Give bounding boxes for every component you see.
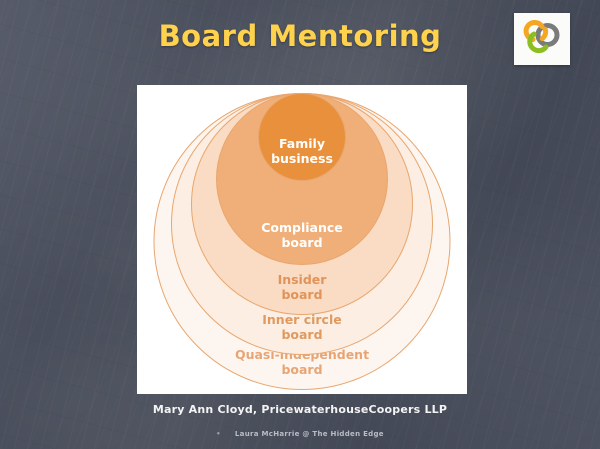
slide-canvas: Board Mentoring Quasi-independent board … bbox=[0, 0, 600, 449]
page-title: Board Mentoring bbox=[0, 19, 600, 53]
circle-family-business: Family business bbox=[258, 93, 346, 181]
interlocking-rings-logo bbox=[514, 13, 570, 65]
source-text: Laura McHarrie @ The Hidden Edge bbox=[235, 430, 384, 438]
credit-line: Mary Ann Cloyd, PricewaterhouseCoopers L… bbox=[0, 403, 600, 416]
circle-label-insider-board: Insider board bbox=[192, 272, 412, 303]
diagram-panel: Quasi-independent board Inner circle boa… bbox=[137, 85, 467, 394]
circle-label-compliance-board: Compliance board bbox=[217, 220, 387, 251]
circle-label-family-business: Family business bbox=[259, 136, 345, 167]
source-line: •Laura McHarrie @ The Hidden Edge bbox=[0, 430, 600, 438]
circle-label-inner-circle-board: Inner circle board bbox=[172, 312, 432, 343]
bullet-icon: • bbox=[216, 430, 221, 438]
interlocking-rings-icon bbox=[522, 20, 562, 58]
